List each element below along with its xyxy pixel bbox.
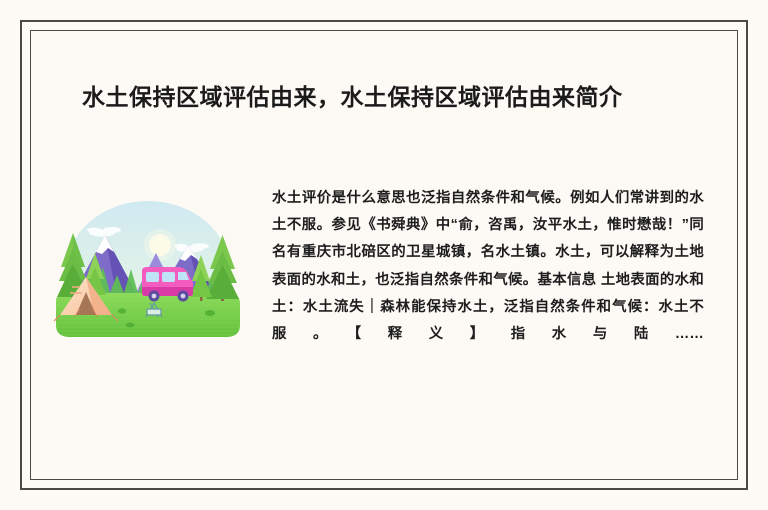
article-paragraph: 水土评价是什么意思也泛指自然条件和气候。例如人们常讲到的水土不服。参见《书舜典》…: [272, 185, 704, 375]
camping-scene-illustration: [50, 197, 246, 349]
page-title: 水土保持区域评估由来，水土保持区域评估由来简介: [82, 80, 692, 114]
article-body: 水土评价是什么意思也泛指自然条件和气候。例如人们常讲到的水土不服。参见《书舜典》…: [30, 185, 738, 445]
page-content: 水土保持区域评估由来，水土保持区域评估由来简介: [30, 30, 738, 480]
camping-scene-svg: [50, 197, 246, 349]
van-window: [146, 272, 159, 282]
van-window: [162, 272, 175, 282]
